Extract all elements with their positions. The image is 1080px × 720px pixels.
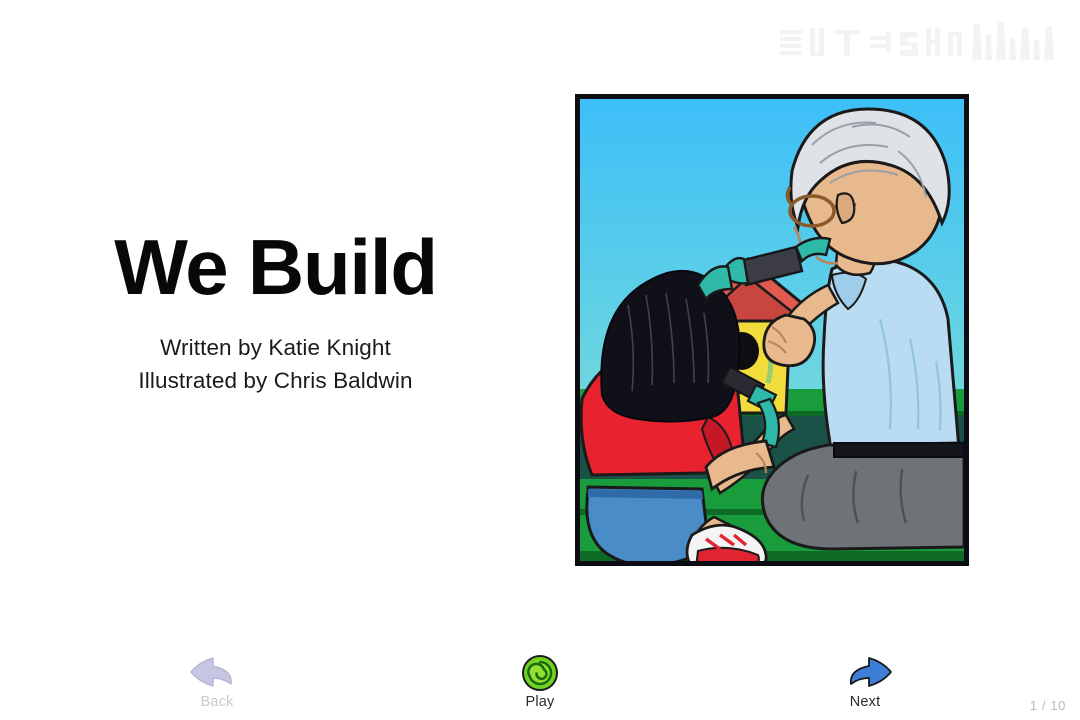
next-button[interactable]: Next [817, 654, 913, 710]
book-title: We Build [0, 228, 545, 306]
author-credit: Written by Katie Knight [6, 332, 545, 365]
play-button[interactable]: Play [492, 654, 588, 710]
ebook-reader-page: We Build Written by Katie Knight Illustr… [0, 0, 1080, 720]
publisher-watermark [778, 18, 1063, 66]
credits-block: Written by Katie Knight Illustrated by C… [0, 332, 545, 398]
arrow-left-icon [169, 654, 265, 692]
illustrator-credit: Illustrated by Chris Baldwin [6, 365, 545, 398]
cover-illustration [575, 94, 969, 566]
arrow-right-icon [817, 654, 913, 692]
page-counter: 1 / 10 [1030, 698, 1066, 713]
spiral-play-icon [492, 654, 588, 692]
reader-navigation-bar: Back Play Next 1 / 10 [0, 648, 1080, 720]
title-block: We Build Written by Katie Knight Illustr… [0, 228, 545, 398]
next-button-label: Next [817, 694, 913, 710]
play-button-label: Play [492, 694, 588, 710]
back-button-label: Back [169, 694, 265, 710]
back-button[interactable]: Back [169, 654, 265, 710]
